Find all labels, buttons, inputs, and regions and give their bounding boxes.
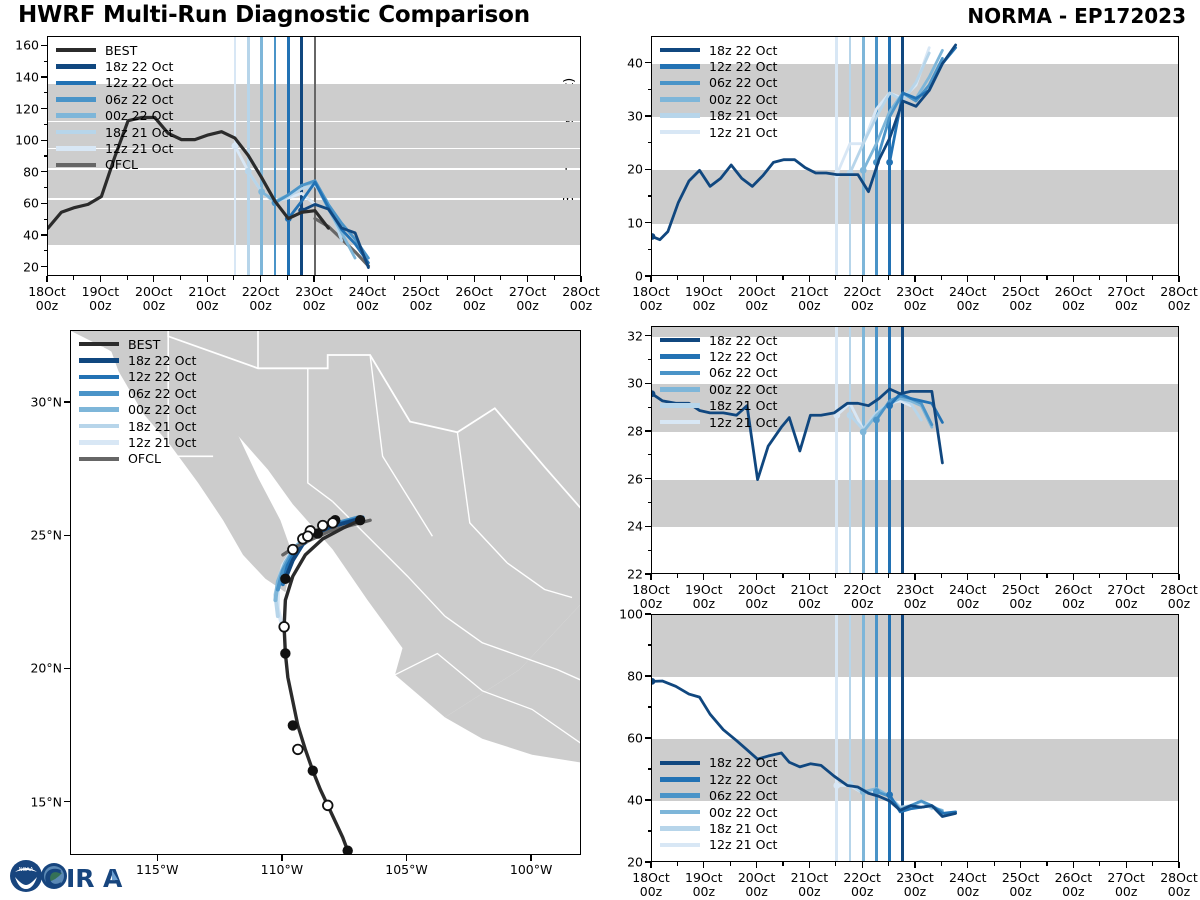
legend-swatch-run_00z22 [56,113,96,118]
x-tick-minor [835,276,836,280]
x-tick [1020,276,1021,282]
legend-swatch-run_18z21 [56,130,96,135]
legend-label: 12z 21 Oct [709,837,777,852]
legend-row: 18z 21 Oct [660,398,777,414]
y-tick-label: 20 [0,259,39,274]
y-tick-label: 60 [595,731,643,746]
track-marker-filled [288,720,298,730]
legend-row: OFCL [79,451,196,467]
x-tick-minor [994,276,995,280]
x-tick [474,276,475,282]
x-tick-minor [394,276,395,280]
legend-label: 00z 22 Oct [128,402,196,417]
intensity-panel: BEST18z 22 Oct12z 22 Oct06z 22 Oct00z 22… [47,36,581,276]
legend-row: 12z 21 Oct [56,140,173,156]
lon-tick [157,855,158,861]
x-tick-minor [941,276,942,280]
legend-swatch-run_18z21 [660,113,700,118]
series-init-marker [860,429,867,436]
y-tick [41,234,47,235]
y-tick-minor [648,706,652,707]
series-init-marker [886,402,893,409]
y-tick [645,737,651,738]
y-tick-label: 28 [595,423,643,438]
legend-row: 00z 22 Oct [660,804,777,820]
y-tick-label: 32 [595,328,643,343]
x-tick [967,574,968,580]
y-tick-label: 24 [595,519,643,534]
legend-label: BEST [128,337,160,352]
track-marker-filled [308,766,318,776]
legend-label: 18z 21 Oct [709,398,777,413]
x-tick [862,574,863,580]
series-line [837,48,929,175]
svg-text:IR: IR [66,864,95,893]
y-tick-label: 120 [0,101,39,116]
legend-row: 12z 21 Oct [660,837,777,853]
track-marker-open [323,801,333,811]
x-tick-minor [677,862,678,866]
legend-row: BEST [56,42,173,58]
legend-row: OFCL [56,157,173,173]
x-tick [650,276,651,282]
x-tick [703,574,704,580]
track-marker-open [279,622,289,632]
legend-label: 00z 22 Oct [709,92,777,107]
y-tick [645,222,651,223]
x-tick [862,276,863,282]
y-tick-minor [44,155,48,156]
y-tick-label: 160 [0,38,39,53]
x-tick [153,276,154,282]
legend-row: 12z 22 Oct [79,369,196,385]
x-tick [1020,862,1021,868]
shear-panel: 18z 22 Oct12z 22 Oct06z 22 Oct00z 22 Oct… [651,36,1179,276]
legend-label: 12z 21 Oct [709,415,777,430]
legend-label: 06z 22 Oct [105,92,173,107]
y-tick [41,140,47,141]
legend-label: OFCL [105,157,138,172]
y-tick-minor [648,407,652,408]
x-tick [914,276,915,282]
x-tick [1178,574,1179,580]
series-init-marker [652,678,655,685]
legend-row: 18z 21 Oct [660,108,777,124]
legend-label: 18z 21 Oct [105,125,173,140]
x-tick [703,862,704,868]
legend-swatch-run_18z22 [660,48,700,53]
x-tick-minor [1046,574,1047,578]
y-tick [645,62,651,63]
x-tick-sublabel: 00z [547,298,615,313]
legend-swatch-run_18z22 [79,358,119,363]
page-title: HWRF Multi-Run Diagnostic Comparison [18,2,530,28]
series-init-marker [258,188,265,195]
x-tick-minor [888,276,889,280]
track-marker-filled [342,845,352,855]
legend-row: BEST [79,336,196,352]
x-tick [1073,862,1074,868]
y-tick-label: 20 [595,162,643,177]
legend-row: 00z 22 Oct [660,91,777,107]
legend-row: 00z 22 Oct [56,108,173,124]
x-tick-minor [677,574,678,578]
track-marker-open [303,531,313,541]
lon-tick-label: 100°W [491,862,571,877]
shear-legend: 18z 22 Oct12z 22 Oct06z 22 Oct00z 22 Oct… [660,42,777,140]
legend-row: 18z 22 Oct [660,755,777,771]
x-tick-minor [941,574,942,578]
legend-swatch-run_00z22 [660,97,700,102]
series-init-marker [833,782,840,789]
x-tick [100,276,101,282]
x-tick [650,574,651,580]
x-tick [914,574,915,580]
legend-swatch-run_12z22 [660,354,700,359]
track-marker-open [328,518,338,528]
x-tick [367,276,368,282]
lat-tick [64,668,70,669]
legend-label: 12z 22 Oct [709,772,777,787]
y-tick [645,335,651,336]
x-tick [862,862,863,868]
legend-swatch-run_06z22 [660,371,700,376]
y-tick-label: 60 [0,196,39,211]
x-tick [914,862,915,868]
y-tick-label: 20 [595,855,643,870]
x-tick [967,276,968,282]
x-tick-minor [73,276,74,280]
cira-noaa-logo: NOAA C IR A [8,856,138,896]
legend-label: 12z 21 Oct [105,141,173,156]
legend-row: 12z 21 Oct [660,414,777,430]
x-tick [809,574,810,580]
x-tick-minor [1152,574,1153,578]
y-tick [41,76,47,77]
storm-id-title: NORMA - EP172023 [967,4,1186,28]
x-tick-minor [994,574,995,578]
x-tick-minor [782,276,783,280]
track-panel: BEST18z 22 Oct12z 22 Oct06z 22 Oct00z 22… [70,330,581,855]
legend-swatch-run_00z22 [79,407,119,412]
x-tick-minor [835,574,836,578]
y-tick-label: 40 [0,227,39,242]
legend-label: 12z 22 Oct [105,75,173,90]
y-tick-minor [44,61,48,62]
lon-tick [281,855,282,861]
y-tick [645,613,651,614]
x-tick [703,276,704,282]
rh-panel: 18z 22 Oct12z 22 Oct06z 22 Oct00z 22 Oct… [651,614,1179,862]
x-tick-minor [888,574,889,578]
sst-panel: 18z 22 Oct12z 22 Oct06z 22 Oct00z 22 Oct… [651,326,1179,574]
legend-label: 12z 21 Oct [128,435,196,450]
y-tick-minor [44,250,48,251]
y-tick-minor [648,89,652,90]
x-tick-minor [1152,862,1153,866]
track-marker-filled [280,574,290,584]
legend-label: 18z 21 Oct [709,108,777,123]
legend-swatch-best [79,342,119,347]
y-tick-minor [44,187,48,188]
legend-row: 18z 22 Oct [79,352,196,368]
legend-swatch-run_18z21 [79,424,119,429]
track-legend: BEST18z 22 Oct12z 22 Oct06z 22 Oct00z 22… [79,336,196,467]
legend-swatch-ofcl [56,163,96,168]
legend-row: 12z 21 Oct [660,124,777,140]
x-tick-label: 28Oct [1145,870,1200,885]
lat-tick-label: 15°N [8,794,62,809]
legend-row: 00z 22 Oct [79,402,196,418]
y-tick [645,478,651,479]
y-tick-label: 80 [0,164,39,179]
x-tick-minor [1046,276,1047,280]
y-tick-minor [648,249,652,250]
x-tick-minor [233,276,234,280]
x-tick [1178,276,1179,282]
y-tick [645,169,651,170]
legend-row: 06z 22 Oct [79,385,196,401]
legend-row: 18z 21 Oct [79,418,196,434]
legend-swatch-run_06z22 [660,793,700,798]
legend-row: 18z 21 Oct [660,820,777,836]
track-marker-open [288,545,298,555]
y-tick [645,675,651,676]
legend-swatch-run_18z21 [660,403,700,408]
x-tick [1126,862,1127,868]
x-tick-minor [994,862,995,866]
legend-label: 12z 22 Oct [128,369,196,384]
legend-row: 00z 22 Oct [660,381,777,397]
x-tick [967,862,968,868]
y-tick [41,45,47,46]
series-init-marker [847,412,854,419]
y-tick [41,203,47,204]
y-tick [41,171,47,172]
series-init-marker [860,167,867,174]
lat-tick-label: 20°N [8,661,62,676]
y-tick-minor [648,142,652,143]
legend-swatch-run_12z21 [660,420,700,425]
svg-text:NOAA: NOAA [19,867,34,873]
track-marker-filled [280,648,290,658]
y-tick-minor [648,830,652,831]
x-tick-minor [730,862,731,866]
x-tick-sublabel: 00z [1145,884,1200,899]
legend-label: 12z 22 Oct [709,349,777,364]
track-marker-filled [355,515,365,525]
x-tick-minor [730,574,731,578]
legend-swatch-run_06z22 [56,97,96,102]
x-tick-minor [554,276,555,280]
y-tick-label: 80 [595,669,643,684]
track-marker-open [293,745,303,755]
legend-swatch-run_06z22 [660,81,700,86]
x-tick [527,276,528,282]
x-tick [313,276,314,282]
x-tick [809,862,810,868]
y-tick-minor [648,359,652,360]
legend-swatch-run_18z22 [660,338,700,343]
legend-label: 12z 21 Oct [709,125,777,140]
legend-swatch-run_18z21 [660,826,700,831]
legend-row: 06z 22 Oct [660,787,777,803]
legend-label: 06z 22 Oct [709,75,777,90]
y-tick-minor [44,124,48,125]
y-tick [645,799,651,800]
legend-swatch-run_00z22 [660,810,700,815]
y-tick-label: 22 [595,567,643,582]
x-tick-sublabel: 00z [1145,298,1200,313]
legend-label: BEST [105,43,137,58]
svg-text:C: C [44,864,62,893]
series-init-marker [886,159,893,166]
legend-label: OFCL [128,451,161,466]
legend-swatch-run_12z21 [660,130,700,135]
x-tick [207,276,208,282]
y-tick [41,108,47,109]
x-tick [756,574,757,580]
x-tick [756,276,757,282]
legend-swatch-run_06z22 [79,391,119,396]
x-tick-sublabel: 00z [1145,596,1200,611]
y-tick-minor [648,502,652,503]
x-tick [1020,574,1021,580]
legend-label: 18z 22 Oct [709,43,777,58]
legend-swatch-run_12z22 [79,375,119,380]
sst-legend: 18z 22 Oct12z 22 Oct06z 22 Oct00z 22 Oct… [660,332,777,430]
x-tick [1126,574,1127,580]
x-tick-minor [1152,276,1153,280]
x-tick-minor [888,862,889,866]
y-tick-minor [648,768,652,769]
legend-swatch-ofcl [79,457,119,462]
x-tick-minor [180,276,181,280]
x-tick-minor [782,862,783,866]
cira-wordmark: C IR A [41,863,123,893]
legend-swatch-run_18z22 [56,64,96,69]
x-tick [46,276,47,282]
x-tick-minor [941,862,942,866]
lat-tick-label: 30°N [8,394,62,409]
x-tick-minor [730,276,731,280]
rh-legend: 18z 22 Oct12z 22 Oct06z 22 Oct00z 22 Oct… [660,755,777,853]
legend-swatch-run_12z21 [660,843,700,848]
x-tick-label: 28Oct [1145,582,1200,597]
legend-label: 06z 22 Oct [128,386,196,401]
y-tick-minor [648,454,652,455]
y-tick [41,266,47,267]
series-init-marker [886,791,893,798]
y-tick [645,526,651,527]
x-tick-label: 28Oct [1145,284,1200,299]
y-tick-label: 0 [595,269,643,284]
lon-tick-label: 105°W [367,862,447,877]
legend-label: 06z 22 Oct [709,788,777,803]
x-tick-minor [835,862,836,866]
y-tick-label: 100 [595,607,643,622]
legend-row: 18z 22 Oct [660,332,777,348]
lat-tick [64,535,70,536]
legend-swatch-run_12z21 [56,146,96,151]
x-tick-label: 28Oct [547,284,615,299]
y-tick-minor [648,550,652,551]
x-tick-minor [1046,862,1047,866]
x-tick [1073,574,1074,580]
x-tick-minor [500,276,501,280]
legend-label: 18z 21 Oct [709,821,777,836]
x-tick [260,276,261,282]
lon-tick [406,855,407,861]
x-tick [1073,276,1074,282]
x-tick-minor [677,276,678,280]
lat-tick [64,801,70,802]
series-init-marker [245,168,252,175]
lat-tick [64,401,70,402]
noaa-seal-icon: NOAA [10,860,42,892]
legend-label: 06z 22 Oct [709,365,777,380]
legend-label: 18z 22 Oct [128,353,196,368]
x-tick-minor [287,276,288,280]
x-tick-minor [447,276,448,280]
y-tick-minor [648,195,652,196]
x-tick [420,276,421,282]
legend-swatch-run_18z22 [660,761,700,766]
x-tick-minor [1099,862,1100,866]
track-marker-open [318,521,328,531]
legend-swatch-run_12z22 [660,64,700,69]
legend-row: 12z 21 Oct [79,434,196,450]
x-tick [809,276,810,282]
legend-row: 12z 22 Oct [56,75,173,91]
y-tick-minor [44,219,48,220]
intensity-legend: BEST18z 22 Oct12z 22 Oct06z 22 Oct00z 22… [56,42,173,173]
x-tick [1126,276,1127,282]
x-tick-minor [127,276,128,280]
y-tick-label: 10 [595,215,643,230]
y-tick-label: 140 [0,70,39,85]
lon-tick-label: 110°W [242,862,322,877]
x-tick [580,276,581,282]
x-tick [1178,862,1179,868]
y-tick [645,115,651,116]
x-tick-minor [340,276,341,280]
legend-swatch-run_12z22 [660,777,700,782]
legend-label: 18z 22 Oct [105,59,173,74]
legend-row: 06z 22 Oct [660,75,777,91]
y-tick-minor [44,92,48,93]
legend-label: 00z 22 Oct [709,382,777,397]
y-tick-label: 26 [595,471,643,486]
legend-label: 18z 22 Oct [709,333,777,348]
legend-row: 12z 22 Oct [660,348,777,364]
y-tick [645,383,651,384]
legend-label: 18z 21 Oct [128,419,196,434]
legend-label: 00z 22 Oct [105,108,173,123]
legend-swatch-run_12z21 [79,440,119,445]
y-tick-minor [648,644,652,645]
y-tick-label: 30 [595,109,643,124]
legend-row: 12z 22 Oct [660,58,777,74]
legend-row: 18z 21 Oct [56,124,173,140]
y-tick-label: 40 [595,55,643,70]
legend-row: 18z 22 Oct [56,58,173,74]
y-tick-label: 100 [0,133,39,148]
legend-row: 06z 22 Oct [56,91,173,107]
legend-row: 12z 22 Oct [660,771,777,787]
x-tick-minor [782,574,783,578]
y-tick [645,430,651,431]
